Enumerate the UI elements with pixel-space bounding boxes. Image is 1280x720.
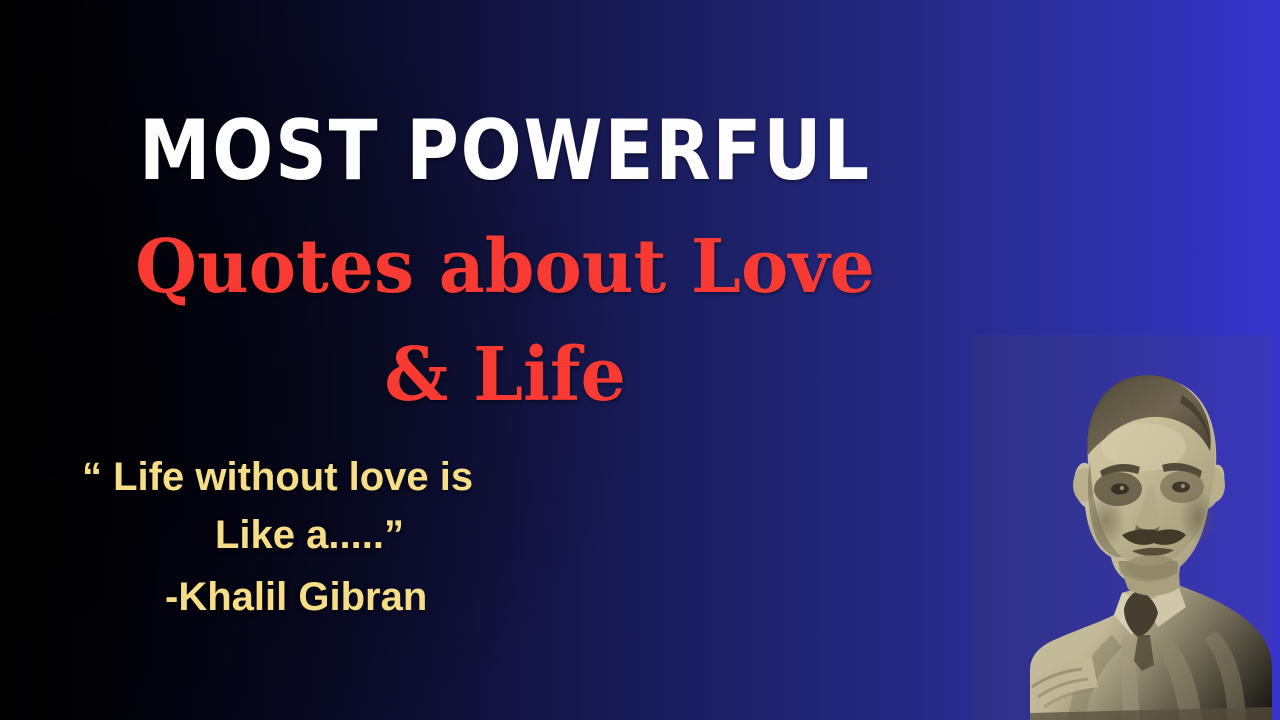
- thumbnail-canvas: MOST POWERFUL Quotes about Love & Life “…: [0, 0, 1280, 720]
- subtitle-line-2: & Life: [20, 338, 990, 412]
- quote-author: -Khalil Gibran: [60, 568, 700, 626]
- portrait-image: [972, 335, 1272, 720]
- quote-line-1: “ Life without love is: [60, 448, 700, 506]
- portrait-khalil-gibran: [972, 335, 1272, 720]
- subtitle-line-1: Quotes about Love: [20, 230, 990, 304]
- quote-line-2: Like a.....”: [60, 506, 700, 564]
- quote-block: “ Life without love is Like a.....” -Kha…: [60, 448, 700, 626]
- page-title: MOST POWERFUL: [40, 110, 969, 193]
